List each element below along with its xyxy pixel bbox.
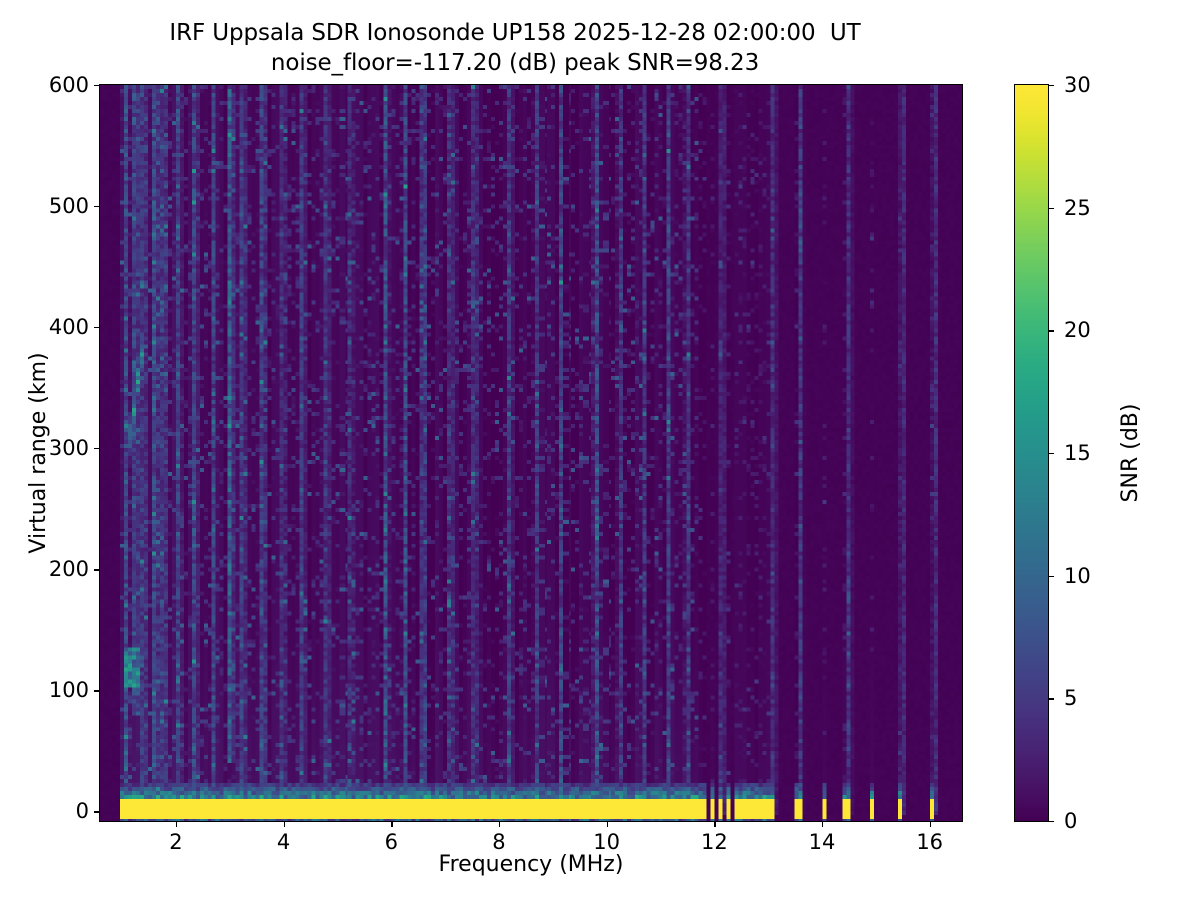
y-tick (94, 448, 100, 449)
y-tick-label: 300 (49, 436, 89, 460)
x-tick (176, 821, 177, 827)
x-tick-label: 10 (593, 830, 620, 854)
x-tick (822, 821, 823, 827)
y-tick (94, 327, 100, 328)
x-tick-label: 12 (701, 830, 728, 854)
colorbar-label: SNR (dB) (1118, 84, 1144, 822)
y-tick-label: 100 (49, 678, 89, 702)
y-tick (94, 569, 100, 570)
colorbar-tick (1048, 453, 1054, 454)
x-tick-label: 16 (916, 830, 943, 854)
y-tick (94, 85, 100, 86)
x-tick-label: 2 (169, 830, 182, 854)
x-axis-label: Frequency (MHz) (99, 852, 963, 877)
title-line-1: IRF Uppsala SDR Ionosonde UP158 2025-12-… (0, 18, 1030, 48)
colorbar-tick-label: 0 (1064, 809, 1077, 833)
colorbar-tick-label: 5 (1064, 686, 1077, 710)
colorbar-tick (1048, 208, 1054, 209)
figure-title: IRF Uppsala SDR Ionosonde UP158 2025-12-… (0, 18, 1030, 78)
x-tick-label: 14 (809, 830, 836, 854)
colorbar-tick-label: 10 (1064, 564, 1091, 588)
y-tick-label: 0 (76, 799, 89, 823)
x-tick-label: 6 (385, 830, 398, 854)
colorbar-tick-label: 15 (1064, 441, 1091, 465)
y-tick (94, 690, 100, 691)
ionogram-figure: IRF Uppsala SDR Ionosonde UP158 2025-12-… (0, 0, 1200, 900)
colorbar-tick (1048, 821, 1054, 822)
colorbar-gradient (1015, 85, 1048, 821)
y-tick-label: 600 (49, 73, 89, 97)
colorbar-tick-label: 20 (1064, 318, 1091, 342)
colorbar-tick (1048, 576, 1054, 577)
colorbar-tick (1048, 85, 1054, 86)
y-tick-label: 500 (49, 194, 89, 218)
y-tick-label: 200 (49, 557, 89, 581)
colorbar[interactable]: 051015202530 (1014, 84, 1049, 822)
colorbar-tick (1048, 330, 1054, 331)
y-tick-label: 400 (49, 315, 89, 339)
x-tick (930, 821, 931, 827)
ionogram-heatmap[interactable] (100, 85, 962, 821)
y-axis-label: Virtual range (km) (26, 84, 52, 822)
x-tick (391, 821, 392, 827)
x-tick-label: 8 (492, 830, 505, 854)
x-tick (714, 821, 715, 827)
x-tick-label: 4 (277, 830, 290, 854)
title-line-2: noise_floor=-117.20 (dB) peak SNR=98.23 (0, 48, 1030, 78)
y-tick (94, 206, 100, 207)
y-tick (94, 811, 100, 812)
x-tick (607, 821, 608, 827)
colorbar-tick (1048, 698, 1054, 699)
colorbar-tick-label: 25 (1064, 196, 1091, 220)
x-tick (284, 821, 285, 827)
colorbar-tick-label: 30 (1064, 73, 1091, 97)
x-tick (499, 821, 500, 827)
plot-area[interactable]: 0100200300400500600 246810121416 (99, 84, 963, 822)
